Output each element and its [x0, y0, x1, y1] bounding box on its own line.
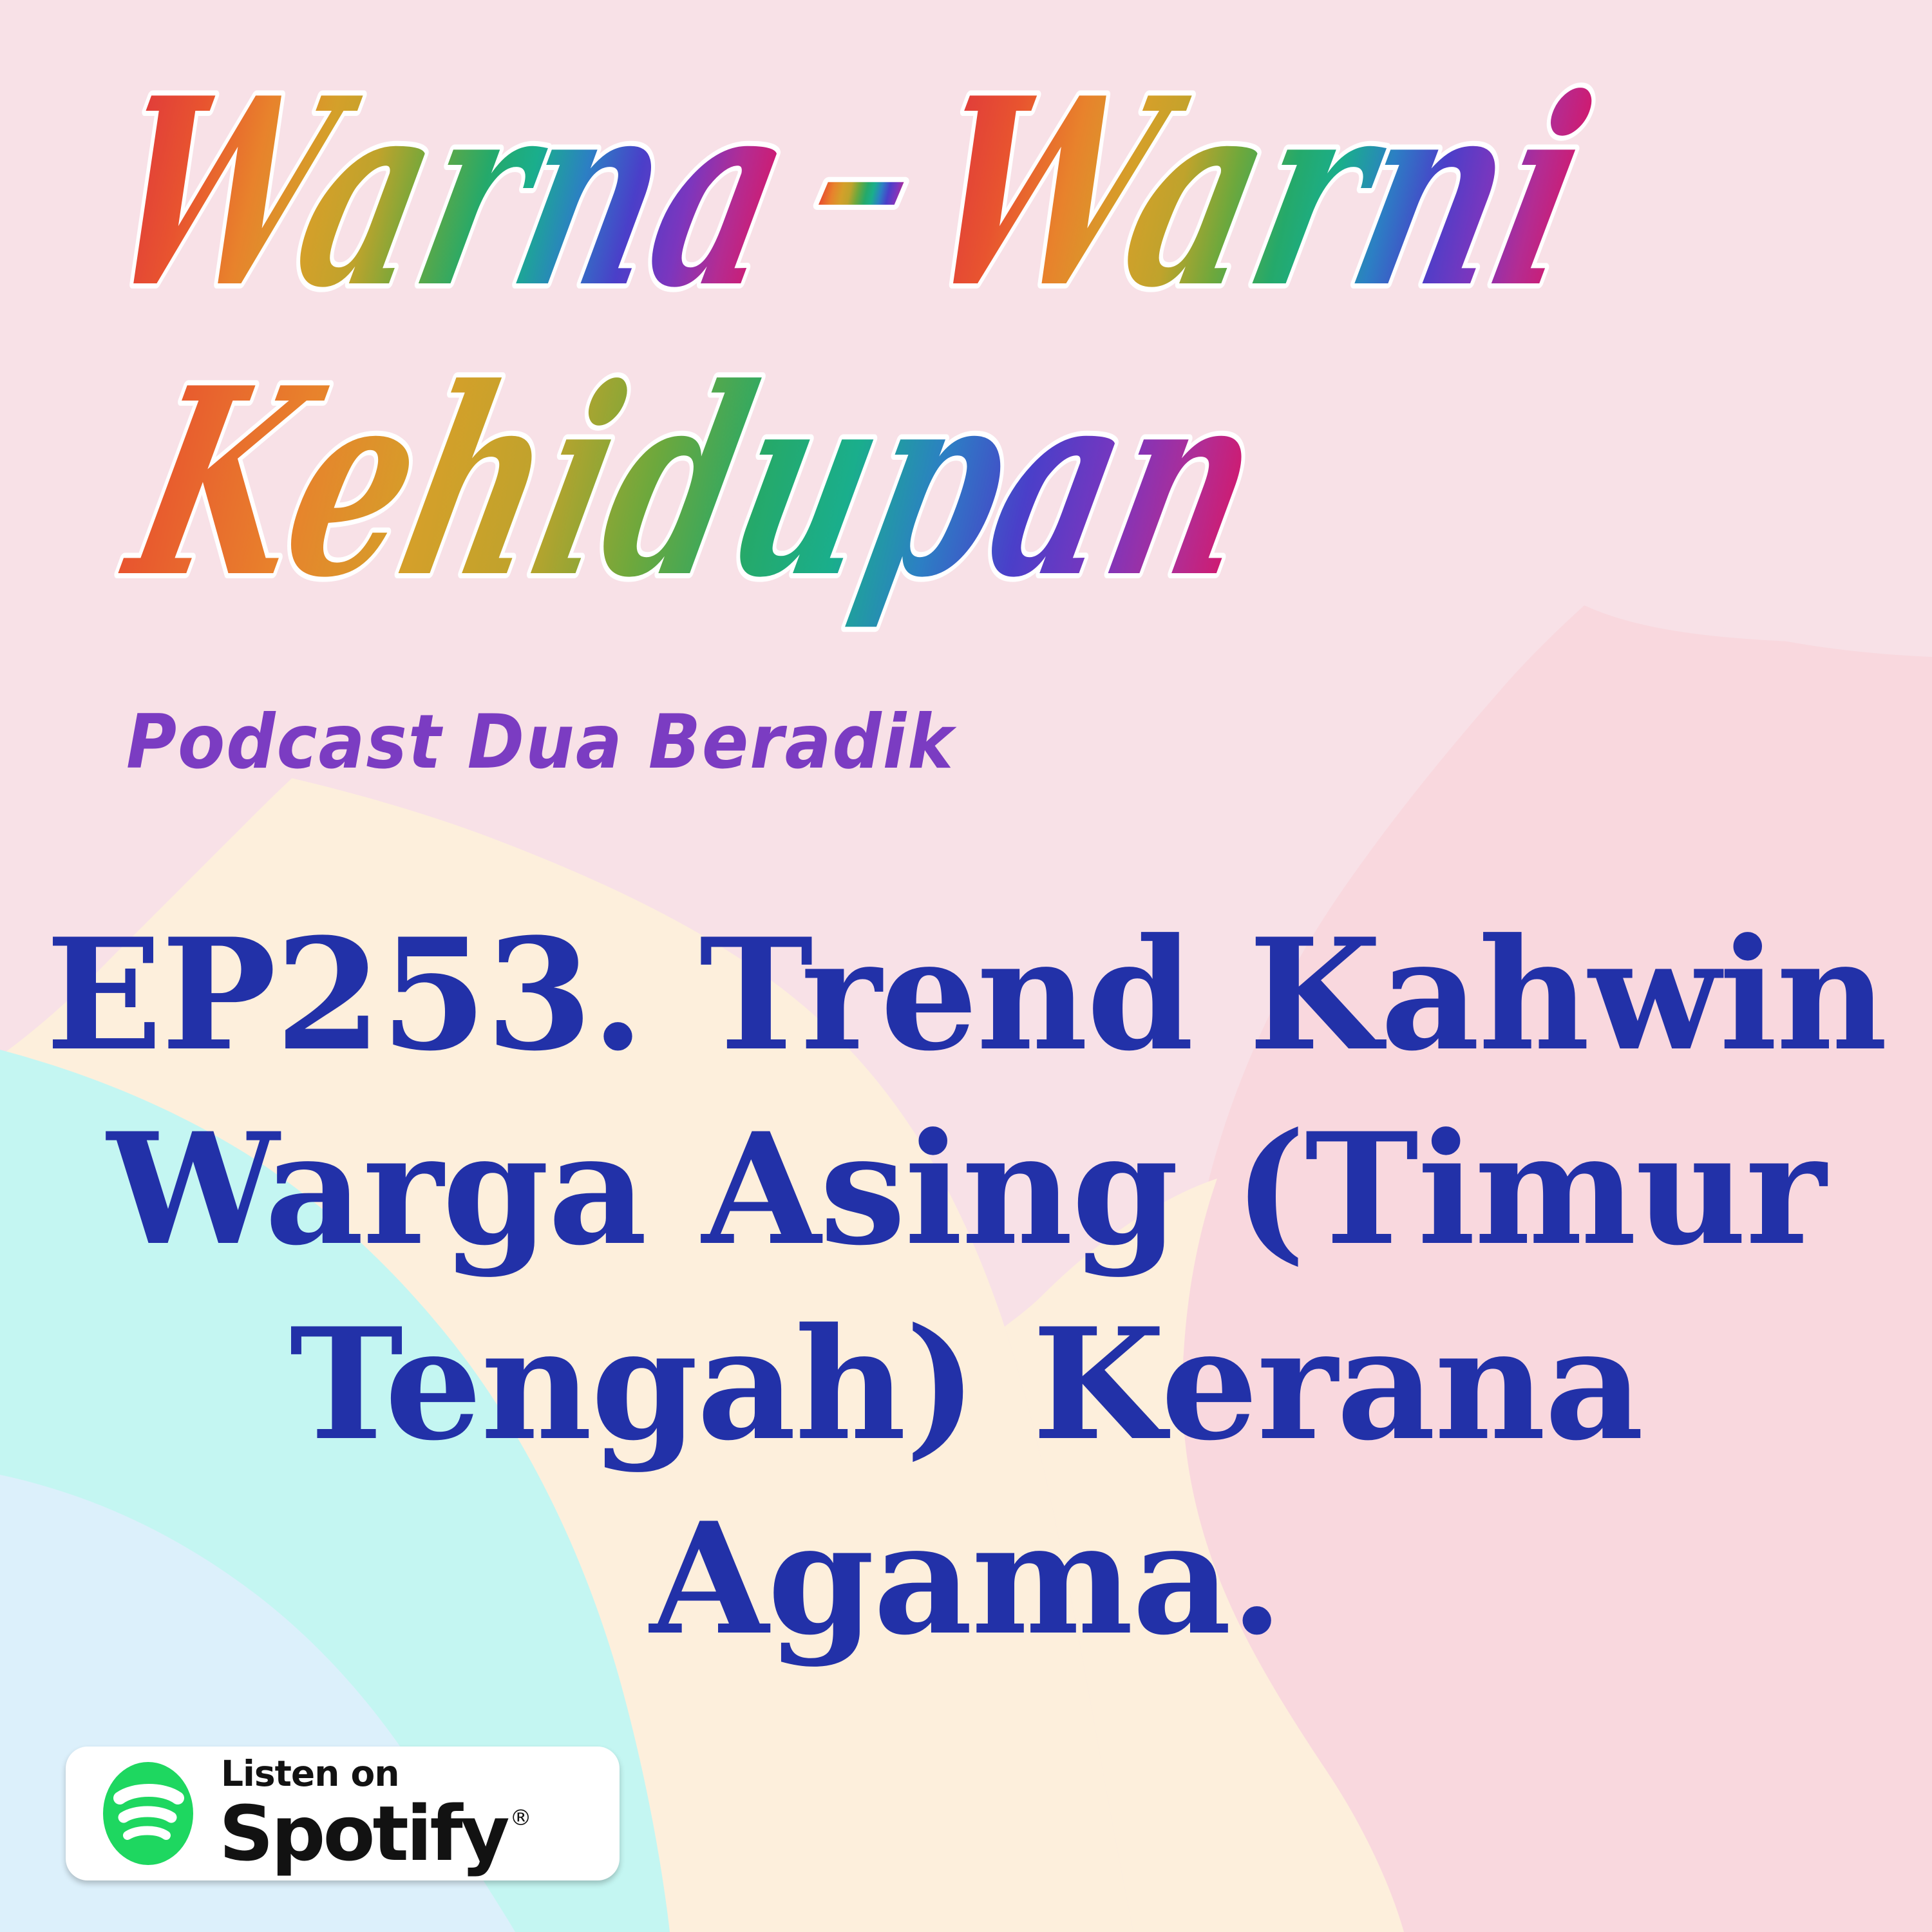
- registered-trademark-icon: ®: [510, 1807, 532, 1829]
- listen-on-label: Listen on: [221, 1756, 532, 1792]
- podcast-cover-art: Warna – Warni Kehidupan Podcast Dua Bera…: [0, 0, 1932, 1932]
- spotify-wordmark-row: Spotify ®: [219, 1795, 532, 1871]
- spotify-icon: [94, 1759, 202, 1868]
- spotify-wordmark-group: Listen on Spotify ®: [219, 1756, 532, 1871]
- episode-title: EP253. Trend Kahwin Warga Asing (Timur T…: [32, 898, 1900, 1677]
- spotify-wordmark: Spotify: [219, 1795, 507, 1871]
- listen-on-spotify-badge[interactable]: Listen on Spotify ®: [66, 1747, 620, 1880]
